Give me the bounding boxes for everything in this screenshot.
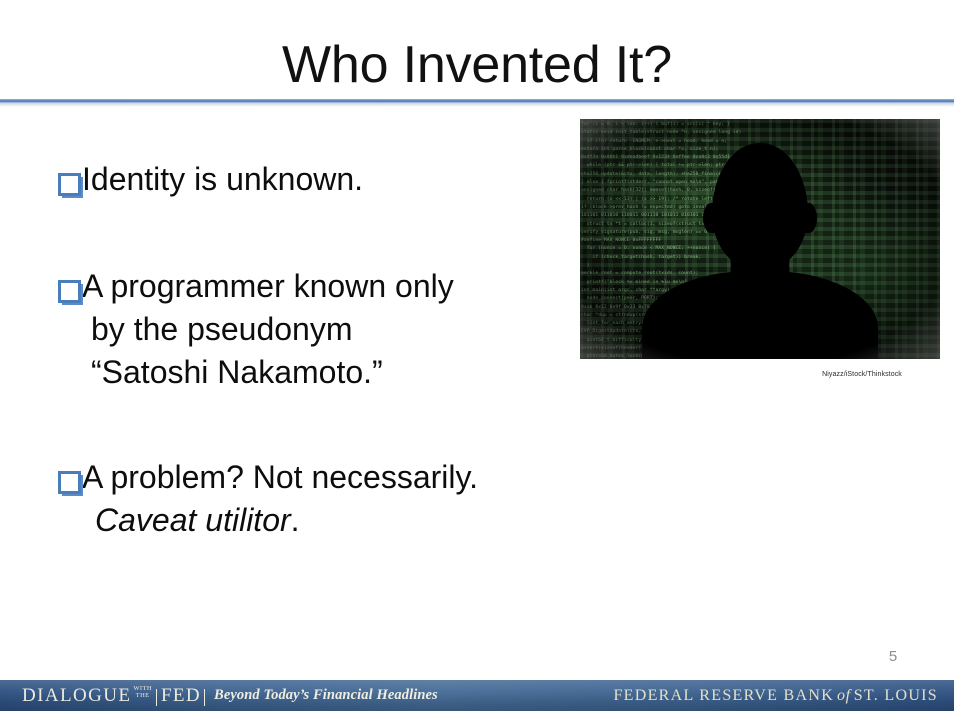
bullet-list: Identity is unknown. A programmer known … — [52, 152, 612, 542]
slide-canvas: Who Invented It? Identity is unknown. — [0, 0, 954, 711]
bullet-item-2: A programmer known only by the pseudonym… — [52, 265, 612, 394]
bank-name-of: of — [837, 687, 851, 705]
latin-phrase-period: . — [291, 502, 300, 538]
bullet-line: “Satoshi Nakamoto.” — [82, 351, 454, 394]
bullet-line-italic: Caveat utilitor. — [82, 499, 478, 542]
slide-number: 5 — [880, 648, 906, 665]
title-divider-shadow — [0, 103, 954, 107]
footer-tagline: Beyond Today’s Financial Headlines — [214, 687, 438, 704]
photo-vignette — [580, 119, 940, 359]
bullet-item-1: Identity is unknown. — [52, 158, 612, 207]
bullet-text-3: A problem? Not necessarily. Caveat utili… — [82, 456, 478, 542]
hollow-square-bullet-icon — [52, 274, 82, 314]
dialogue-with-the-fed-logo: DIALOGUEWITHTHEFEDBeyond Today’s Financi… — [22, 680, 438, 711]
logo-with-the-stack: WITHTHE — [133, 685, 152, 699]
bullet-text-2: A programmer known only by the pseudonym… — [82, 265, 454, 394]
logo-with-word: WITH — [133, 685, 152, 692]
slide-title: Who Invented It? — [0, 34, 954, 96]
hollow-square-bullet-icon — [52, 465, 82, 505]
bullet-line: A programmer known only — [82, 265, 454, 308]
photo-frame: for (i = 0; i < len; i++) { buf[i] = src… — [580, 119, 940, 359]
photo-credit: Niyazz/iStock/Thinkstock — [786, 370, 938, 380]
bullet-line: Identity is unknown. — [82, 158, 363, 201]
bullet-line: A problem? Not necessarily. — [82, 456, 478, 499]
logo-divider-2 — [204, 689, 205, 706]
bullet-line: by the pseudonym — [82, 308, 454, 351]
silhouette-photo: for (i = 0; i < len; i++) { buf[i] = src… — [580, 119, 940, 359]
logo-dialogue-word: DIALOGUE — [22, 685, 131, 707]
logo-fed-word: FED — [161, 685, 201, 707]
bank-name-pre: FEDERAL RESERVE BANK — [613, 687, 834, 705]
slide-footer: DIALOGUEWITHTHEFEDBeyond Today’s Financi… — [0, 680, 954, 711]
logo-divider-1 — [156, 689, 157, 706]
latin-phrase: Caveat utilitor — [95, 502, 291, 538]
federal-reserve-bank-wordmark: FEDERAL RESERVE BANKofST. LOUIS — [613, 680, 938, 711]
bank-name-post: ST. LOUIS — [854, 687, 938, 705]
bullet-text-1: Identity is unknown. — [82, 158, 363, 201]
bullet-item-3: A problem? Not necessarily. Caveat utili… — [52, 456, 612, 542]
logo-the-word: THE — [133, 692, 152, 699]
hollow-square-bullet-icon — [52, 167, 82, 207]
